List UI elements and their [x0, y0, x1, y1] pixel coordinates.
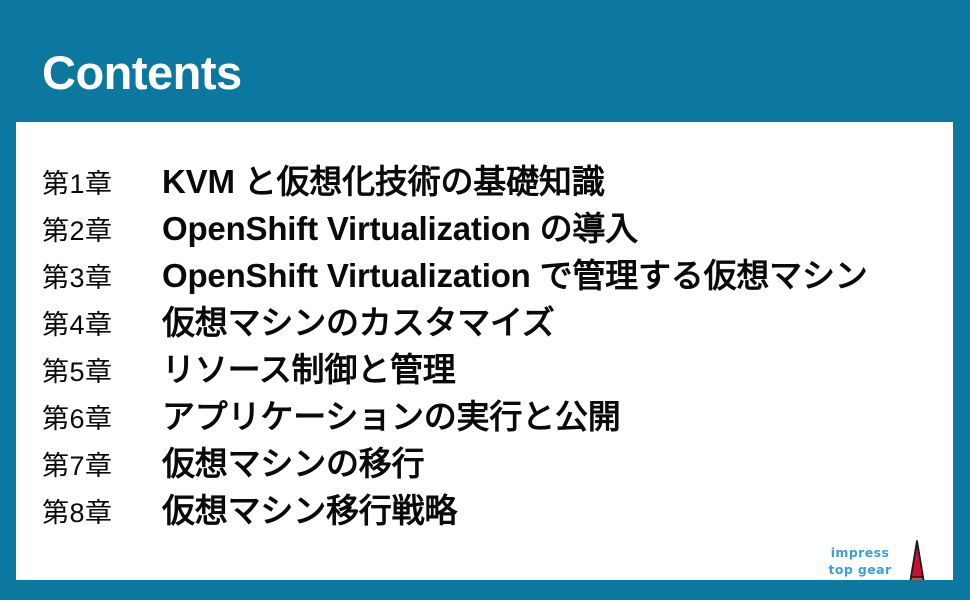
- chapter-title: アプリケーションの実行と公開: [162, 390, 621, 438]
- list-item[interactable]: 第5章 リソース制御と管理: [42, 343, 953, 390]
- publisher-logo: impress top gear: [816, 537, 953, 580]
- chapter-title: 仮想マシンのカスタマイズ: [162, 296, 555, 344]
- chapter-number: 第3章: [42, 256, 162, 295]
- chapter-number: 第1章: [42, 162, 162, 201]
- table-of-contents: 第1章 KVM と仮想化技術の基礎知識 第2章 OpenShift Virtua…: [42, 155, 953, 531]
- chapter-title: KVM と仮想化技術の基礎知識: [162, 155, 605, 203]
- chapter-title: OpenShift Virtualization で管理する仮想マシン: [162, 249, 868, 297]
- content-card: 第1章 KVM と仮想化技術の基礎知識 第2章 OpenShift Virtua…: [16, 122, 953, 580]
- list-item[interactable]: 第1章 KVM と仮想化技術の基礎知識: [42, 155, 953, 202]
- list-item[interactable]: 第4章 仮想マシンのカスタマイズ: [42, 296, 953, 343]
- slide: Contents 第1章 KVM と仮想化技術の基礎知識 第2章 OpenShi…: [0, 0, 970, 600]
- chapter-number: 第2章: [42, 209, 162, 248]
- chapter-number: 第8章: [42, 491, 162, 530]
- list-item[interactable]: 第3章 OpenShift Virtualization で管理する仮想マシン: [42, 249, 953, 296]
- list-item[interactable]: 第7章 仮想マシンの移行: [42, 437, 953, 484]
- list-item[interactable]: 第6章 アプリケーションの実行と公開: [42, 390, 953, 437]
- list-item[interactable]: 第8章 仮想マシン移行戦略: [42, 484, 953, 531]
- cone-mark-icon: [878, 537, 953, 580]
- list-item[interactable]: 第2章 OpenShift Virtualization の導入: [42, 202, 953, 249]
- chapter-number: 第7章: [42, 444, 162, 483]
- chapter-number: 第6章: [42, 397, 162, 436]
- chapter-title: リソース制御と管理: [162, 343, 456, 391]
- chapter-number: 第5章: [42, 350, 162, 389]
- chapter-title: 仮想マシンの移行: [162, 437, 424, 485]
- chapter-title: OpenShift Virtualization の導入: [162, 202, 638, 250]
- chapter-number: 第4章: [42, 303, 162, 342]
- chapter-title: 仮想マシン移行戦略: [162, 484, 457, 532]
- page-title: Contents: [42, 47, 242, 99]
